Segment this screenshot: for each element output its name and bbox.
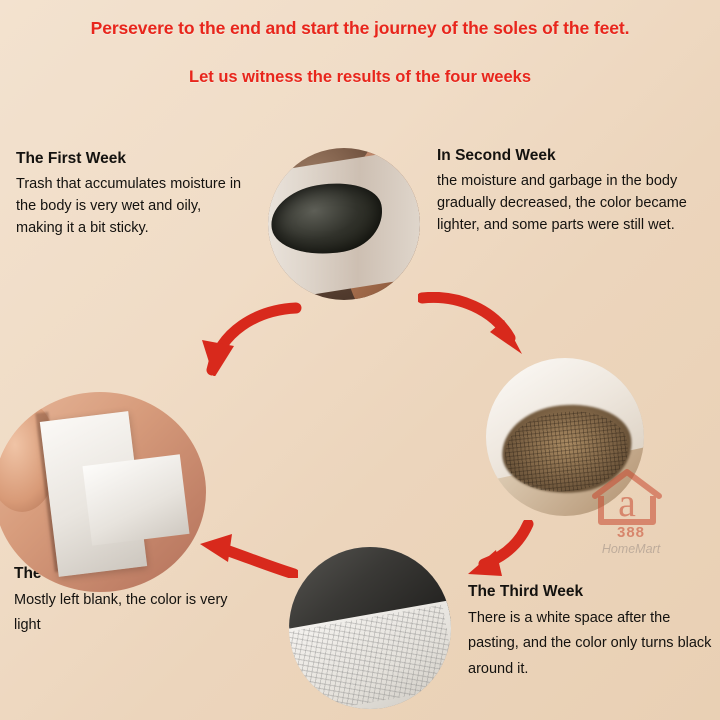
svg-text:a: a	[618, 480, 636, 525]
week-4-body: Mostly left blank, the color is very lig…	[14, 588, 246, 637]
week-1-title: The First Week	[16, 150, 248, 168]
watermark-number: 388	[575, 524, 687, 541]
arrow-week2-to-week3	[466, 520, 542, 586]
watermark-brand: HomeMart	[575, 542, 687, 556]
week-3-body: There is a white space after the pasting…	[468, 606, 714, 682]
arrow-week3-to-week4	[198, 532, 298, 578]
week-2-body: the moisture and garbage in the body gra…	[437, 170, 709, 236]
arrow-week1-to-week2	[418, 292, 528, 362]
foot-pad-week-3-photo	[289, 547, 451, 709]
subheadline: Let us witness the results of the four w…	[0, 68, 720, 87]
foot-pad-week-4-photo	[0, 392, 206, 592]
arrow-week4-to-week1	[200, 300, 306, 376]
foot-pad-week-1-photo	[268, 148, 420, 300]
week-2-text-block: In Second Week the moisture and garbage …	[437, 147, 709, 236]
house-logo-icon: a	[575, 466, 687, 528]
week-1-text-block: The First Week Trash that accumulates mo…	[16, 150, 248, 239]
infographic-canvas: Persevere to the end and start the journ…	[0, 0, 720, 720]
week-1-body: Trash that accumulates moisture in the b…	[16, 173, 248, 239]
watermark-logo: a 388 HomeMart	[575, 466, 687, 574]
week-2-title: In Second Week	[437, 147, 709, 165]
week-3-text-block: The Third Week There is a white space af…	[468, 583, 714, 682]
headline: Persevere to the end and start the journ…	[0, 18, 720, 39]
